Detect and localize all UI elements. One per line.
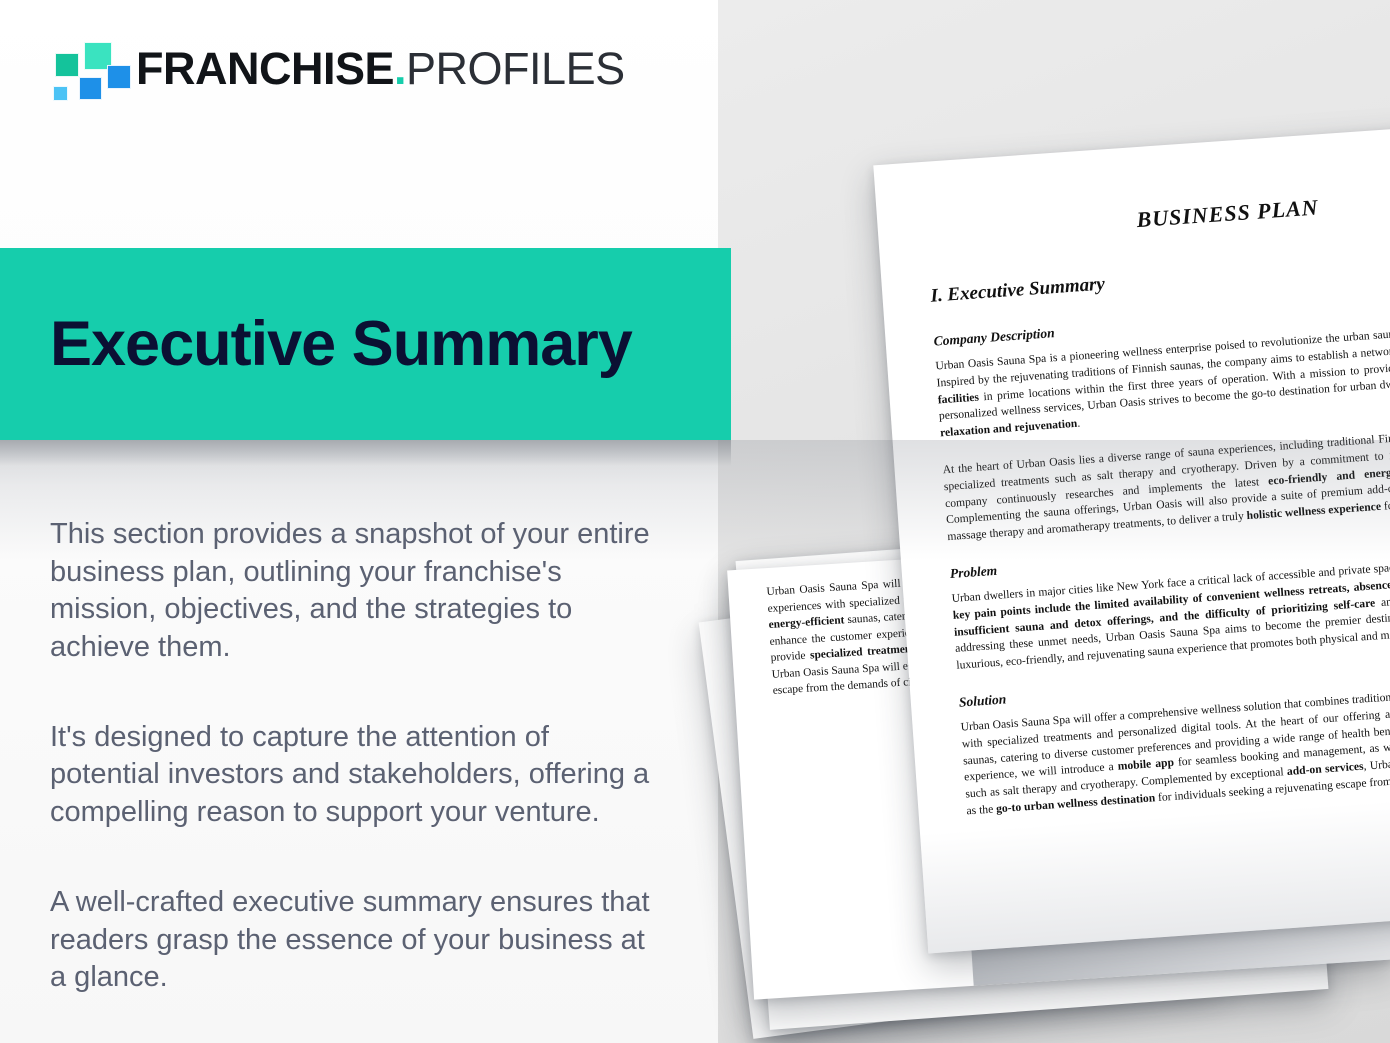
right-panel-shadow bbox=[718, 440, 1390, 560]
title-banner: Executive Summary bbox=[0, 248, 731, 440]
brand-name-light: PROFILES bbox=[406, 43, 625, 94]
body-paragraph-2: It's designed to capture the attention o… bbox=[50, 719, 650, 832]
logo-square-3 bbox=[79, 77, 102, 100]
page-title: Executive Summary bbox=[50, 313, 632, 376]
document-section-heading: I. Executive Summary bbox=[930, 243, 1390, 308]
body-copy: This section provides a snapshot of your… bbox=[50, 516, 650, 997]
logo-square-4 bbox=[107, 65, 131, 89]
brand-logo[interactable]: FRANCHISE.PROFILES bbox=[46, 40, 625, 96]
brand-name-bold: FRANCHISE bbox=[136, 43, 394, 94]
logo-square-1 bbox=[55, 53, 79, 77]
body-paragraph-1: This section provides a snapshot of your… bbox=[50, 516, 650, 667]
logo-squares-icon bbox=[46, 40, 108, 96]
slide-root: FRANCHISE.PROFILES Urban Oasis Sauna Spa… bbox=[0, 0, 1390, 1043]
document-title: BUSINESS PLAN bbox=[911, 179, 1390, 249]
brand-dot: . bbox=[394, 43, 406, 94]
body-paragraph-3: A well-crafted executive summary ensures… bbox=[50, 884, 650, 997]
brand-wordmark: FRANCHISE.PROFILES bbox=[136, 46, 625, 91]
logo-square-5 bbox=[53, 86, 68, 101]
document-stack: Urban Oasis Sauna Spa will offer a compr… bbox=[700, 120, 1390, 1043]
